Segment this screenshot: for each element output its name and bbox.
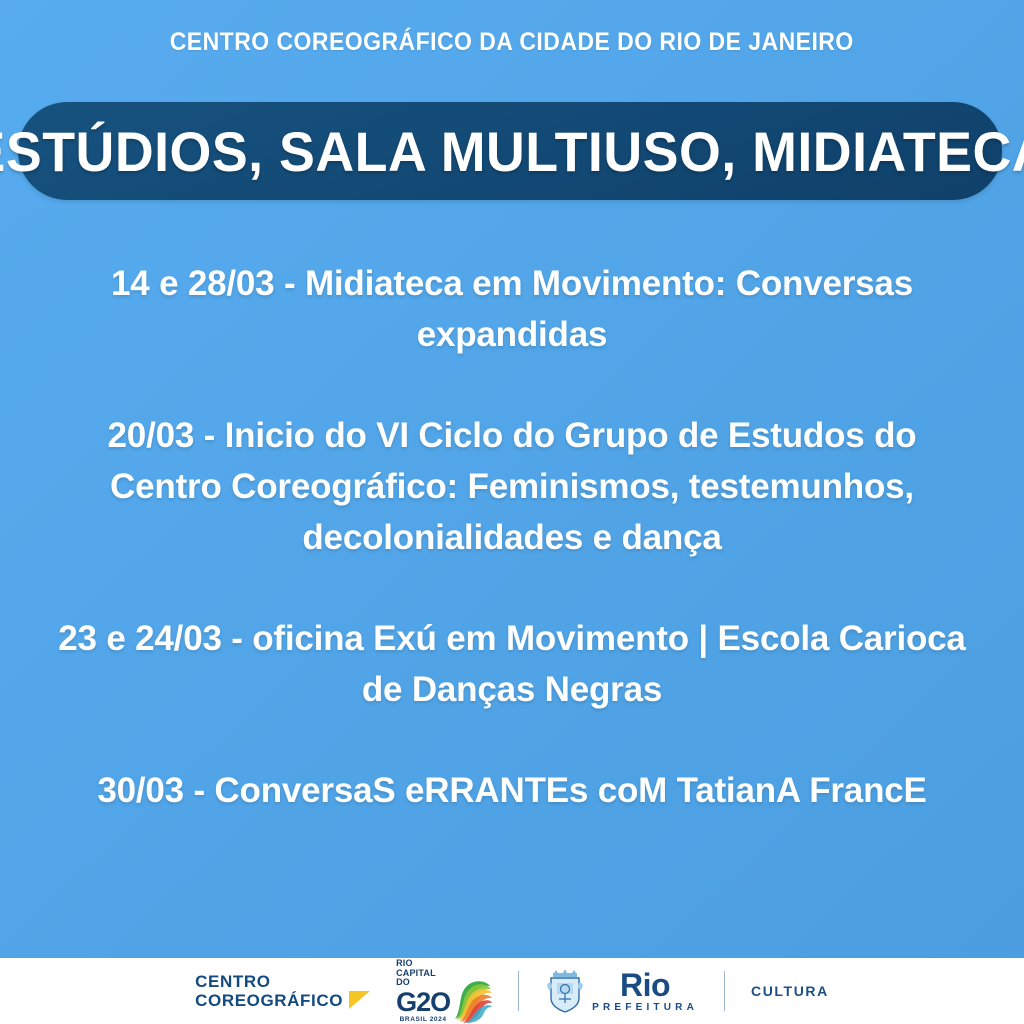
cc-line-1: CENTRO (195, 972, 343, 991)
g20-logo: RIO CAPITAL DO G2O BRASIL 2024 (396, 959, 492, 1023)
centro-coreografico-logo: CENTRO COREOGRÁFICO (195, 972, 370, 1010)
page-title: ESTÚDIOS, SALA MULTIUSO, MIDIATECA (0, 119, 1024, 184)
triangle-icon (349, 991, 370, 1009)
poster-canvas: CENTRO COREOGRÁFICO DA CIDADE DO RIO DE … (0, 0, 1024, 1024)
organization-eyebrow: CENTRO COREOGRÁFICO DA CIDADE DO RIO DE … (170, 28, 854, 57)
program-entry: 14 e 28/03 - Midiateca em Movimento: Con… (50, 258, 974, 360)
cultura-label: CULTURA (751, 983, 829, 999)
program-entry: 23 e 24/03 - oficina Exú em Movimento | … (50, 613, 974, 715)
coat-of-arms-icon (545, 969, 585, 1013)
title-pill: ESTÚDIOS, SALA MULTIUSO, MIDIATECA (18, 102, 1002, 200)
rio-wordmark: Rio PREFEITURA (592, 970, 698, 1013)
centro-coreografico-wordmark: CENTRO COREOGRÁFICO (195, 972, 343, 1010)
rio-prefeitura-logo: Rio PREFEITURA (545, 969, 698, 1013)
g20-mark: G2O (396, 989, 450, 1015)
logo-divider (518, 971, 519, 1011)
rio-label: Rio (620, 970, 670, 1000)
cc-line-2: COREOGRÁFICO (195, 991, 343, 1010)
g20-wordmark: RIO CAPITAL DO G2O BRASIL 2024 (396, 959, 450, 1023)
g20-wave-icon (452, 979, 492, 1023)
program-list: 14 e 28/03 - Midiateca em Movimento: Con… (50, 258, 974, 816)
poster-body: CENTRO COREOGRÁFICO DA CIDADE DO RIO DE … (0, 0, 1024, 958)
g20-subtitle: BRASIL 2024 (396, 1016, 450, 1023)
prefeitura-label: PREFEITURA (592, 1002, 698, 1013)
cultura-divider (724, 971, 725, 1011)
footer-logo-bar: CENTRO COREOGRÁFICO RIO CAPITAL DO G2O B… (0, 958, 1024, 1024)
program-entry: 20/03 - Inicio do VI Ciclo do Grupo de E… (50, 410, 974, 563)
program-entry: 30/03 - ConversaS eRRANTEs coM TatianA F… (50, 765, 974, 816)
